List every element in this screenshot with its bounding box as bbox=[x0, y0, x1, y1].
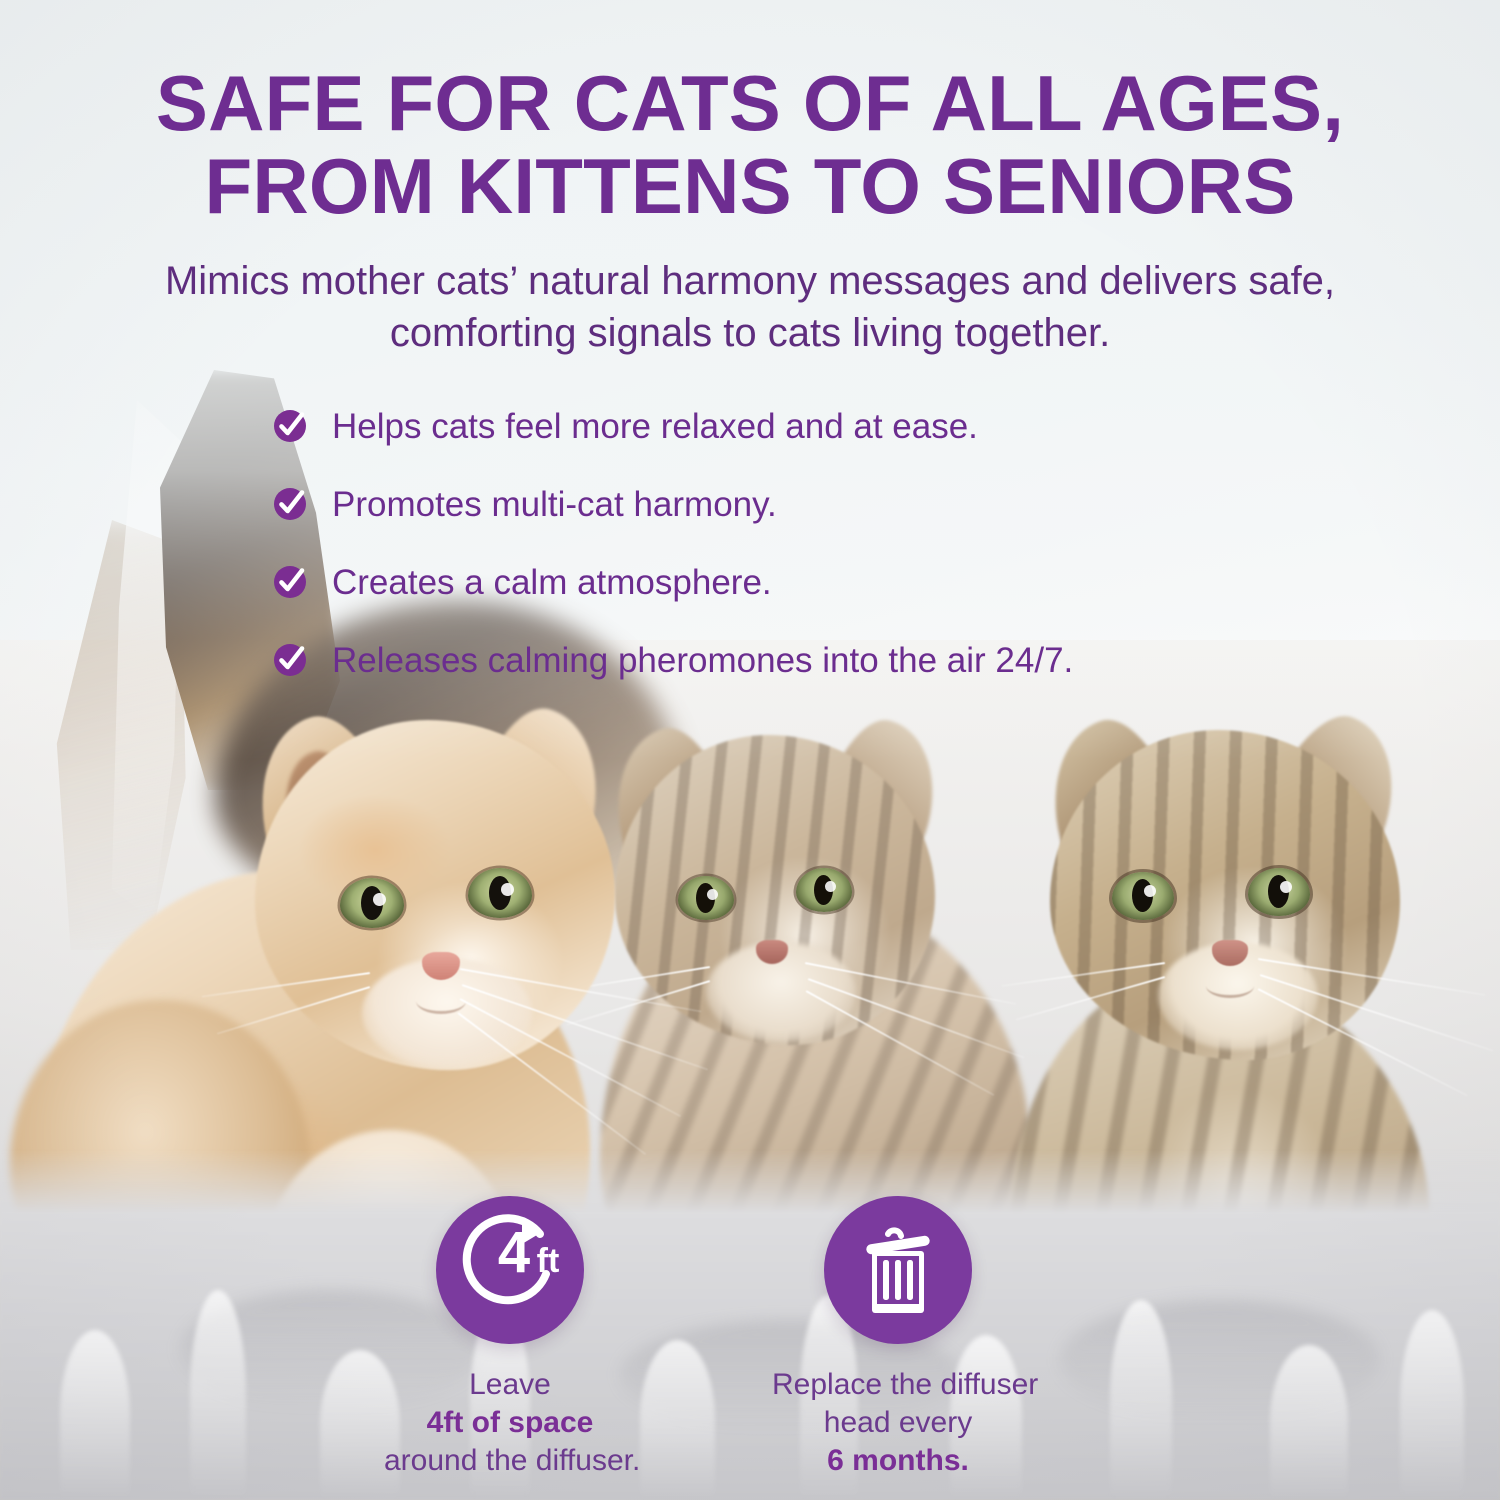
headline-line-2: FROM KITTENS TO SENIORS bbox=[0, 145, 1500, 228]
benefit-label: Promotes multi-cat harmony. bbox=[332, 487, 777, 522]
tip-replacement-caption: Replace the diffuser head every 6 months… bbox=[772, 1366, 1024, 1479]
list-item: Promotes multi-cat harmony. bbox=[272, 478, 1172, 530]
poster-content: SAFE FOR CATS OF ALL AGES, FROM KITTENS … bbox=[0, 0, 1500, 1500]
check-circle-icon bbox=[272, 408, 308, 444]
tip-distance-strong: 4ft of space bbox=[427, 1406, 594, 1439]
list-item: Creates a calm atmosphere. bbox=[272, 556, 1172, 608]
check-circle-icon bbox=[272, 486, 308, 522]
benefit-label: Releases calming pheromones into the air… bbox=[332, 643, 1073, 678]
headline-line-1: SAFE FOR CATS OF ALL AGES, bbox=[0, 62, 1500, 145]
tip-distance-line-1: Leave 4ft of space bbox=[384, 1366, 636, 1442]
tip-replacement: Replace the diffuser head every 6 months… bbox=[772, 1196, 1024, 1479]
svg-text:ft: ft bbox=[537, 1242, 560, 1280]
tip-replacement-prefix: head every bbox=[772, 1404, 1024, 1442]
trash-can-icon bbox=[824, 1196, 972, 1344]
list-item: Helps cats feel more relaxed and at ease… bbox=[272, 400, 1172, 452]
tip-distance: 4 ft Leave 4ft of space around the diffu… bbox=[384, 1196, 636, 1479]
tip-replacement-line-1: Replace the diffuser bbox=[772, 1366, 1024, 1404]
check-circle-icon bbox=[272, 564, 308, 600]
tip-distance-caption: Leave 4ft of space around the diffuser. bbox=[384, 1366, 636, 1479]
page-title: SAFE FOR CATS OF ALL AGES, FROM KITTENS … bbox=[0, 62, 1500, 227]
subtitle-line-1: Mimics mother cats’ natural harmony mess… bbox=[140, 255, 1360, 307]
list-item: Releases calming pheromones into the air… bbox=[272, 634, 1172, 686]
tip-replacement-strong: 6 months. bbox=[827, 1444, 969, 1477]
subtitle: Mimics mother cats’ natural harmony mess… bbox=[140, 255, 1360, 359]
benefit-label: Helps cats feel more relaxed and at ease… bbox=[332, 409, 978, 444]
subtitle-line-2: comforting signals to cats living togeth… bbox=[140, 307, 1360, 359]
benefit-label: Creates a calm atmosphere. bbox=[332, 565, 772, 600]
svg-text:4: 4 bbox=[498, 1220, 530, 1285]
tip-replacement-line-2: head every 6 months. bbox=[772, 1404, 1024, 1480]
circular-arrow-distance-icon: 4 ft bbox=[436, 1196, 584, 1344]
product-feature-poster: SAFE FOR CATS OF ALL AGES, FROM KITTENS … bbox=[0, 0, 1500, 1500]
tip-distance-prefix: Leave bbox=[384, 1366, 636, 1404]
benefit-list: Helps cats feel more relaxed and at ease… bbox=[272, 400, 1172, 712]
check-circle-icon bbox=[272, 642, 308, 678]
tip-distance-line-2: around the diffuser. bbox=[384, 1442, 636, 1480]
